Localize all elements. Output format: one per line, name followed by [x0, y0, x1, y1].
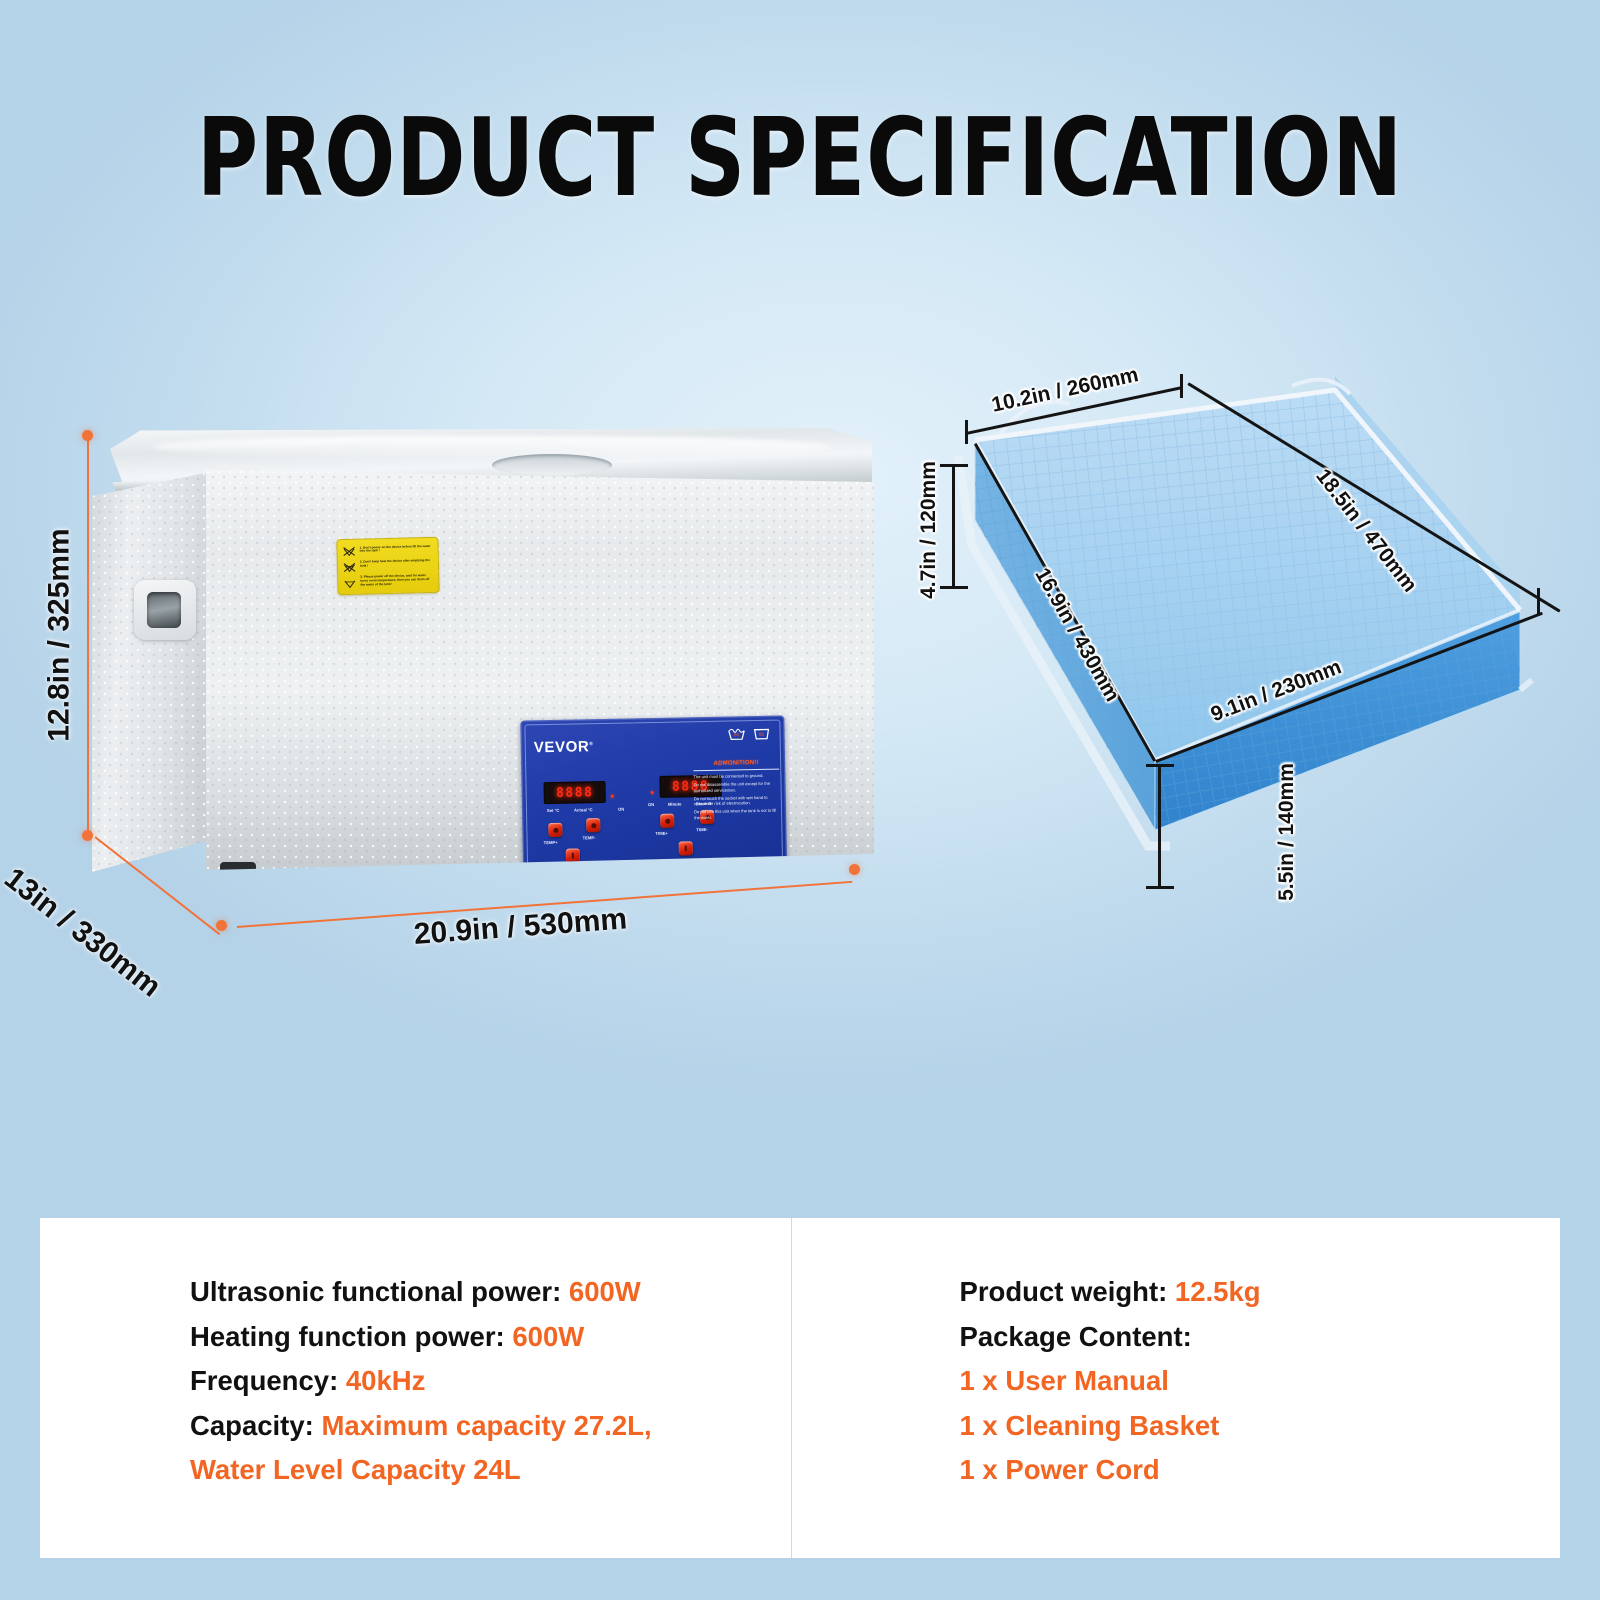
spec-value: 12.5kg — [1175, 1276, 1261, 1307]
display-label-set-c: Set °C — [547, 808, 559, 813]
depth-dimension-dot — [216, 920, 227, 931]
spec-value: 40kHz — [346, 1365, 426, 1396]
lid-highlight — [152, 436, 832, 458]
admonition-divider — [693, 768, 779, 771]
digital-pro-logo: DIGITAL PRO® — [619, 883, 677, 893]
temp-minus-label: TEMP- — [582, 835, 595, 840]
timer-on-led — [651, 791, 654, 794]
spec-value: Maximum capacity 27.2L, — [321, 1410, 651, 1441]
drain-at-room-temp-icon — [343, 577, 356, 588]
spec-row: Capacity: Maximum capacity 27.2L, — [190, 1404, 791, 1449]
basket-inner-height-tick-top — [1146, 764, 1174, 767]
spec-row: Ultrasonic functional power: 600W — [190, 1270, 791, 1315]
warning-sticker: 1. Don't power on the device before fill… — [336, 537, 439, 595]
spec-row: 1 x User Manual — [960, 1359, 1561, 1404]
admonition-heading: ADMONITION!! — [693, 760, 779, 768]
temperature-display: 8888 — [543, 781, 605, 804]
spec-value: 600W — [569, 1276, 641, 1307]
basket-outer-height-line — [952, 464, 955, 588]
spec-row: 1 x Cleaning Basket — [960, 1404, 1561, 1449]
display-label-on-right: ON — [648, 802, 654, 807]
basket-outer-width-tick-left — [965, 420, 968, 444]
ultrasonic-cleaner-unit: 1. Don't power on the device before fill… — [92, 410, 882, 910]
control-panel[interactable]: VEVOR® 60 80 8888 Set °C Actual °C ON — [520, 715, 787, 902]
basket-inner-width-tick — [1537, 588, 1540, 614]
basket-inner-height-label: 5.5in / 140mm — [1275, 763, 1299, 901]
spec-value: 600W — [512, 1321, 584, 1352]
spec-label: Product weight: — [960, 1276, 1175, 1307]
page-title: PRODUCT SPECIFICATION — [112, 96, 1488, 221]
display-label-on-left: ON — [618, 807, 624, 812]
width-dimension-right-dot — [849, 864, 860, 875]
cleaning-basket: 10.2in / 260mm 18.5in / 470mm 4.7in / 12… — [880, 360, 1580, 920]
product-specification-page: PRODUCT SPECIFICATION — [0, 0, 1600, 1600]
sticker-line: 1. Don't power on the device before fill… — [360, 544, 434, 553]
specification-panel: Ultrasonic functional power: 600W Heatin… — [40, 1218, 1560, 1558]
spec-label: Capacity: — [190, 1410, 321, 1441]
admonition-line: Do not disassemble the unit except for t… — [693, 781, 779, 794]
time-plus-label: TIME+ — [655, 831, 668, 836]
unit-foot — [220, 862, 256, 880]
height-dimension-line — [87, 435, 89, 835]
digital-pro-text: DIGITAL PRO — [619, 883, 674, 893]
sticker-icon-group — [342, 544, 356, 590]
temp-power-label: ON/OFF — [559, 866, 575, 871]
spec-row: 1 x Power Cord — [960, 1448, 1561, 1493]
temp-plus-button[interactable] — [548, 823, 562, 837]
display-label-minute: Minute — [668, 801, 682, 806]
spec-label: Frequency: — [190, 1365, 346, 1396]
carry-handle[interactable] — [134, 580, 196, 640]
spec-row: Product weight: 12.5kg — [960, 1270, 1561, 1315]
time-minus-label: TIME- — [696, 827, 708, 832]
spec-column-left: Ultrasonic functional power: 600W Heatin… — [40, 1218, 791, 1558]
spec-row: Heating function power: 600W — [190, 1315, 791, 1360]
spec-row: Frequency: 40kHz — [190, 1359, 791, 1404]
sticker-line: 3. Please power off the device, wait for… — [360, 574, 434, 587]
lid-recess — [492, 454, 612, 476]
display-label-actual-c: Actual °C — [574, 807, 593, 812]
admonition-block: ADMONITION!! The unit must be connected … — [693, 760, 780, 824]
basket-outer-height-tick-top — [940, 464, 968, 467]
sticker-text-group: 1. Don't power on the device before fill… — [359, 542, 434, 590]
side-texture — [92, 472, 210, 872]
height-dimension-bottom-dot — [82, 830, 93, 841]
admonition-line: Do not touch the socket with wet hand to… — [694, 794, 780, 807]
sticker-line: 2. Don't keep heat the device after empt… — [360, 559, 434, 568]
unit-height-label: 12.8in / 325mm — [43, 528, 77, 741]
time-power-button[interactable] — [679, 841, 693, 855]
temp-minus-button[interactable] — [586, 818, 600, 832]
digital-pro-mark: ® — [674, 883, 677, 887]
basket-outer-width-tick-right — [1180, 374, 1183, 398]
no-heat-empty-tank-icon — [343, 561, 356, 572]
admonition-line: The unit must be connected to ground. — [693, 772, 779, 779]
no-power-empty-tank-icon — [342, 545, 355, 556]
temp-plus-label: TEMP+ — [544, 840, 558, 845]
temp-on-led — [611, 795, 614, 798]
time-plus-button[interactable] — [660, 814, 674, 828]
basket-outer-height-label: 4.7in / 120mm — [917, 461, 941, 599]
spec-row: Water Level Capacity 24L — [190, 1448, 791, 1493]
spec-label: Ultrasonic functional power: — [190, 1276, 569, 1307]
basket-inner-height-line — [1158, 764, 1161, 888]
basket-inner-height-tick-bottom — [1146, 886, 1174, 889]
admonition-line: Do not use this unit when the tank is no… — [694, 808, 780, 821]
spec-row: Package Content: — [960, 1315, 1561, 1360]
unit-front-panel: 1. Don't power on the device before fill… — [206, 470, 874, 870]
spec-label: Heating function power: — [190, 1321, 512, 1352]
temp-power-button[interactable] — [566, 848, 580, 862]
height-dimension-top-dot — [82, 430, 93, 441]
basket-outer-height-tick-bottom — [940, 586, 968, 589]
spec-column-right: Product weight: 12.5kg Package Content: … — [791, 1218, 1561, 1558]
time-power-label: ON/OFF — [672, 858, 688, 863]
unit-side-panel — [92, 472, 210, 872]
